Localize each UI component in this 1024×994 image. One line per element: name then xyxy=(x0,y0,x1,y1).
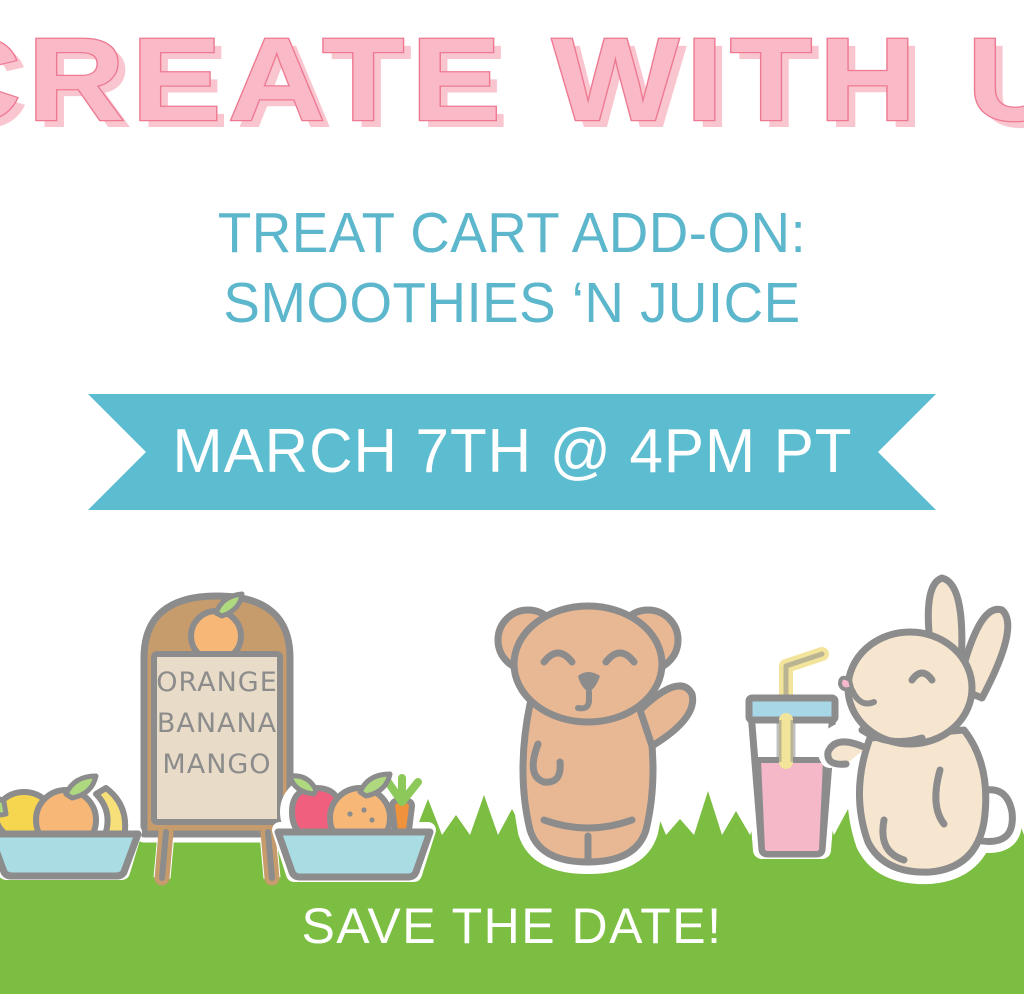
bowl xyxy=(0,834,138,876)
bunny-head xyxy=(848,632,972,744)
date-banner: MARCH 7TH @ 4PM PT xyxy=(88,394,936,510)
fruit-bowl-right-icon xyxy=(268,762,440,886)
footer-text: SAVE THE DATE! xyxy=(0,898,1024,954)
smoothie-fill xyxy=(758,760,826,854)
sign-menu-panel xyxy=(154,654,280,822)
subtitle: TREAT CART ADD-ON: SMOOTHIES ‘N JUICE xyxy=(20,198,1003,338)
headline-text: CREATE WITH US xyxy=(0,14,1024,146)
fruit-bowl-left-icon xyxy=(0,772,140,884)
bear-icon xyxy=(482,592,706,880)
subtitle-line-2: SMOOTHIES ‘N JUICE xyxy=(20,268,1003,338)
headline: CREATE WITH US CREATE WITH US xyxy=(0,18,1024,142)
subtitle-line-1: TREAT CART ADD-ON: xyxy=(20,198,1003,268)
bunny-icon xyxy=(826,562,1024,892)
date-banner-text: MARCH 7TH @ 4PM PT xyxy=(172,420,852,484)
bunny-body xyxy=(859,730,985,872)
bunny-nose xyxy=(840,678,852,690)
bowl xyxy=(278,832,430,877)
poster-canvas: CREATE WITH US CREATE WITH US TREAT CART… xyxy=(0,0,1024,994)
lemon-leaf xyxy=(0,798,6,815)
headline-container: CREATE WITH US CREATE WITH US xyxy=(0,18,1024,148)
